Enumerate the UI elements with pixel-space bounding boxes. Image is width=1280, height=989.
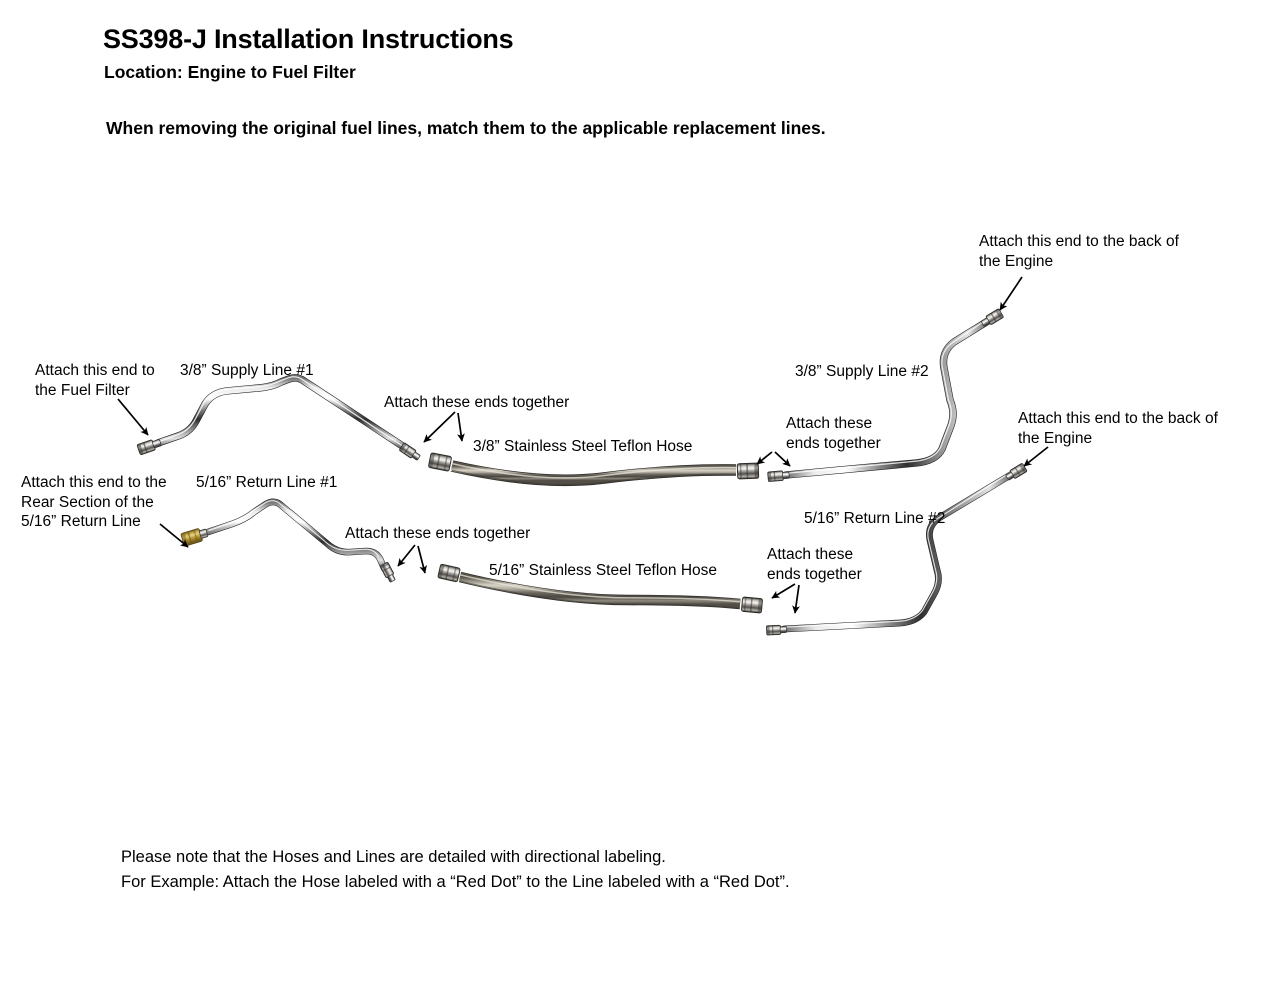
- arrow-return-join-left-b: [418, 546, 425, 573]
- label-supply-line-1: 3/8” Supply Line #1: [180, 361, 314, 381]
- callout-supply-ends-together-left: Attach these ends together: [384, 393, 569, 413]
- arrow-return-engine-end: [1024, 447, 1048, 466]
- fuel-line-diagram: [0, 0, 1280, 989]
- arrow-fuel-filter-end: [118, 399, 148, 435]
- arrow-return-join-right-a: [772, 584, 795, 598]
- part-supply-hose: [428, 453, 758, 485]
- page-title: SS398-J Installation Instructions: [103, 24, 514, 55]
- arrow-supply-join-left-b: [458, 413, 462, 441]
- callout-rear-section-end: Attach this end to the Rear Section of t…: [21, 473, 167, 532]
- callout-supply-engine-end: Attach this end to the back of the Engin…: [979, 232, 1179, 271]
- callout-fuel-filter-end: Attach this end to the Fuel Filter: [35, 361, 155, 400]
- label-supply-line-2: 3/8” Supply Line #2: [795, 362, 929, 382]
- arrow-supply-engine-end: [1000, 277, 1022, 310]
- label-return-line-2: 5/16” Return Line #2: [804, 509, 945, 529]
- location-subtitle: Location: Engine to Fuel Filter: [104, 62, 356, 83]
- arrow-return-join-left-a: [398, 545, 415, 566]
- part-supply-line-1: [137, 377, 421, 462]
- arrow-supply-join-right-b: [775, 452, 790, 466]
- arrow-supply-join-right-a: [757, 452, 772, 464]
- label-supply-hose: 3/8” Stainless Steel Teflon Hose: [473, 437, 692, 457]
- instruction-sheet: SS398-J Installation Instructions Locati…: [0, 0, 1280, 989]
- instruction-text: When removing the original fuel lines, m…: [106, 118, 826, 139]
- callout-return-ends-together-right: Attach these ends together: [767, 545, 862, 584]
- arrow-supply-join-left-a: [424, 412, 455, 442]
- label-return-hose: 5/16” Stainless Steel Teflon Hose: [489, 561, 717, 581]
- callout-supply-ends-together-right: Attach these ends together: [786, 414, 881, 453]
- footer-line-1: Please note that the Hoses and Lines are…: [121, 845, 790, 870]
- callout-return-ends-together-left: Attach these ends together: [345, 524, 530, 544]
- footer-note: Please note that the Hoses and Lines are…: [121, 845, 790, 895]
- callout-return-engine-end: Attach this end to the back of the Engin…: [1018, 409, 1218, 448]
- label-return-line-1: 5/16” Return Line #1: [196, 473, 337, 493]
- part-supply-line-2: [768, 309, 1004, 482]
- arrow-return-join-right-b: [795, 585, 799, 613]
- footer-line-2: For Example: Attach the Hose labeled wit…: [121, 870, 790, 895]
